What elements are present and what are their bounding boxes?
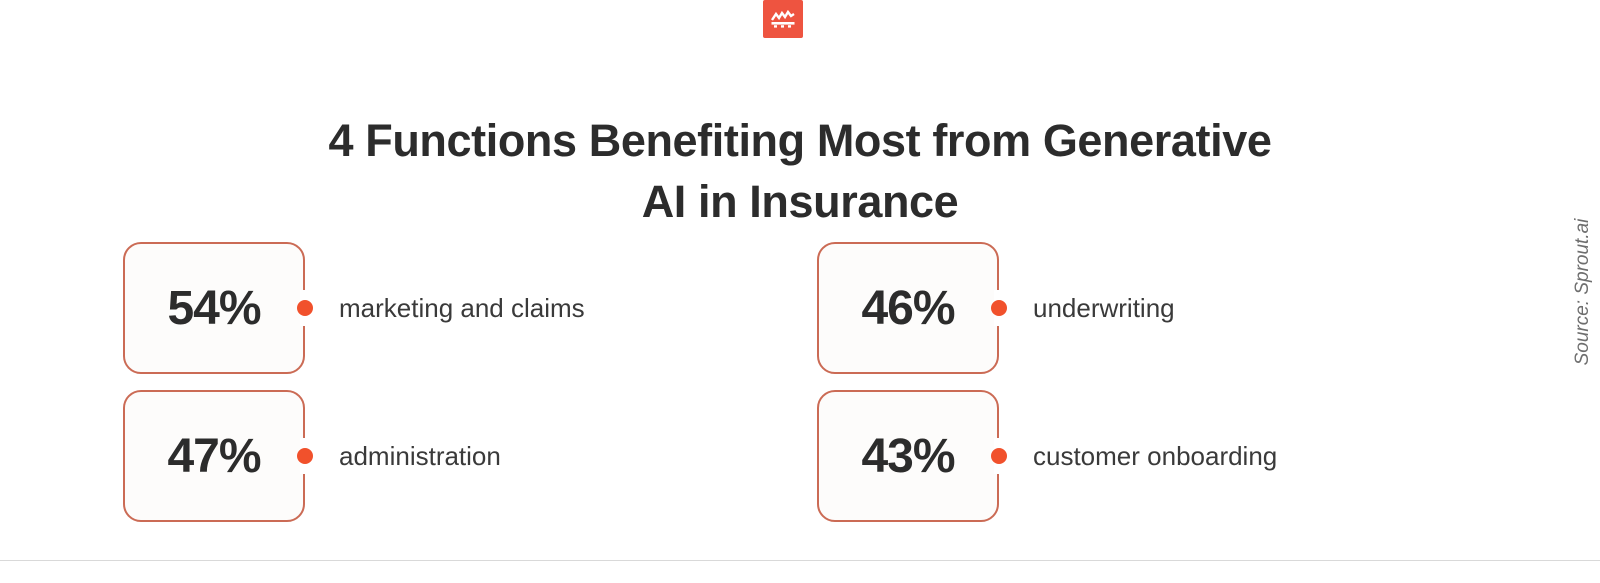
stat-label: administration	[339, 441, 501, 472]
stat-item: 54% marketing and claims	[123, 242, 585, 374]
bullet-dot-icon	[297, 448, 313, 464]
stat-label: underwriting	[1033, 293, 1175, 324]
stat-value: 46%	[861, 281, 954, 336]
bullet-dot-icon	[991, 300, 1007, 316]
stat-grid: 54% marketing and claims 47% administrat…	[0, 228, 1600, 528]
bullet-dot-icon	[991, 448, 1007, 464]
bottom-divider	[0, 560, 1600, 561]
stat-value-box: 46%	[817, 242, 999, 374]
chart-mountain-icon	[771, 10, 795, 28]
stat-item: 47% administration	[123, 390, 501, 522]
stat-label: customer onboarding	[1033, 441, 1277, 472]
page-title-line-1: 4 Functions Benefiting Most from Generat…	[0, 110, 1600, 171]
stat-value: 54%	[167, 281, 260, 336]
page-title: 4 Functions Benefiting Most from Generat…	[0, 110, 1600, 232]
stat-value-box: 43%	[817, 390, 999, 522]
stat-value: 47%	[167, 429, 260, 484]
stat-label: marketing and claims	[339, 293, 585, 324]
brand-logo	[763, 0, 803, 38]
stat-item: 43% customer onboarding	[817, 390, 1277, 522]
stat-item: 46% underwriting	[817, 242, 1175, 374]
bullet-dot-icon	[297, 300, 313, 316]
source-credit: Source: Sprout.ai	[1572, 218, 1594, 365]
stat-value-box: 54%	[123, 242, 305, 374]
page-title-line-2: AI in Insurance	[0, 171, 1600, 232]
stat-value: 43%	[861, 429, 954, 484]
stat-value-box: 47%	[123, 390, 305, 522]
